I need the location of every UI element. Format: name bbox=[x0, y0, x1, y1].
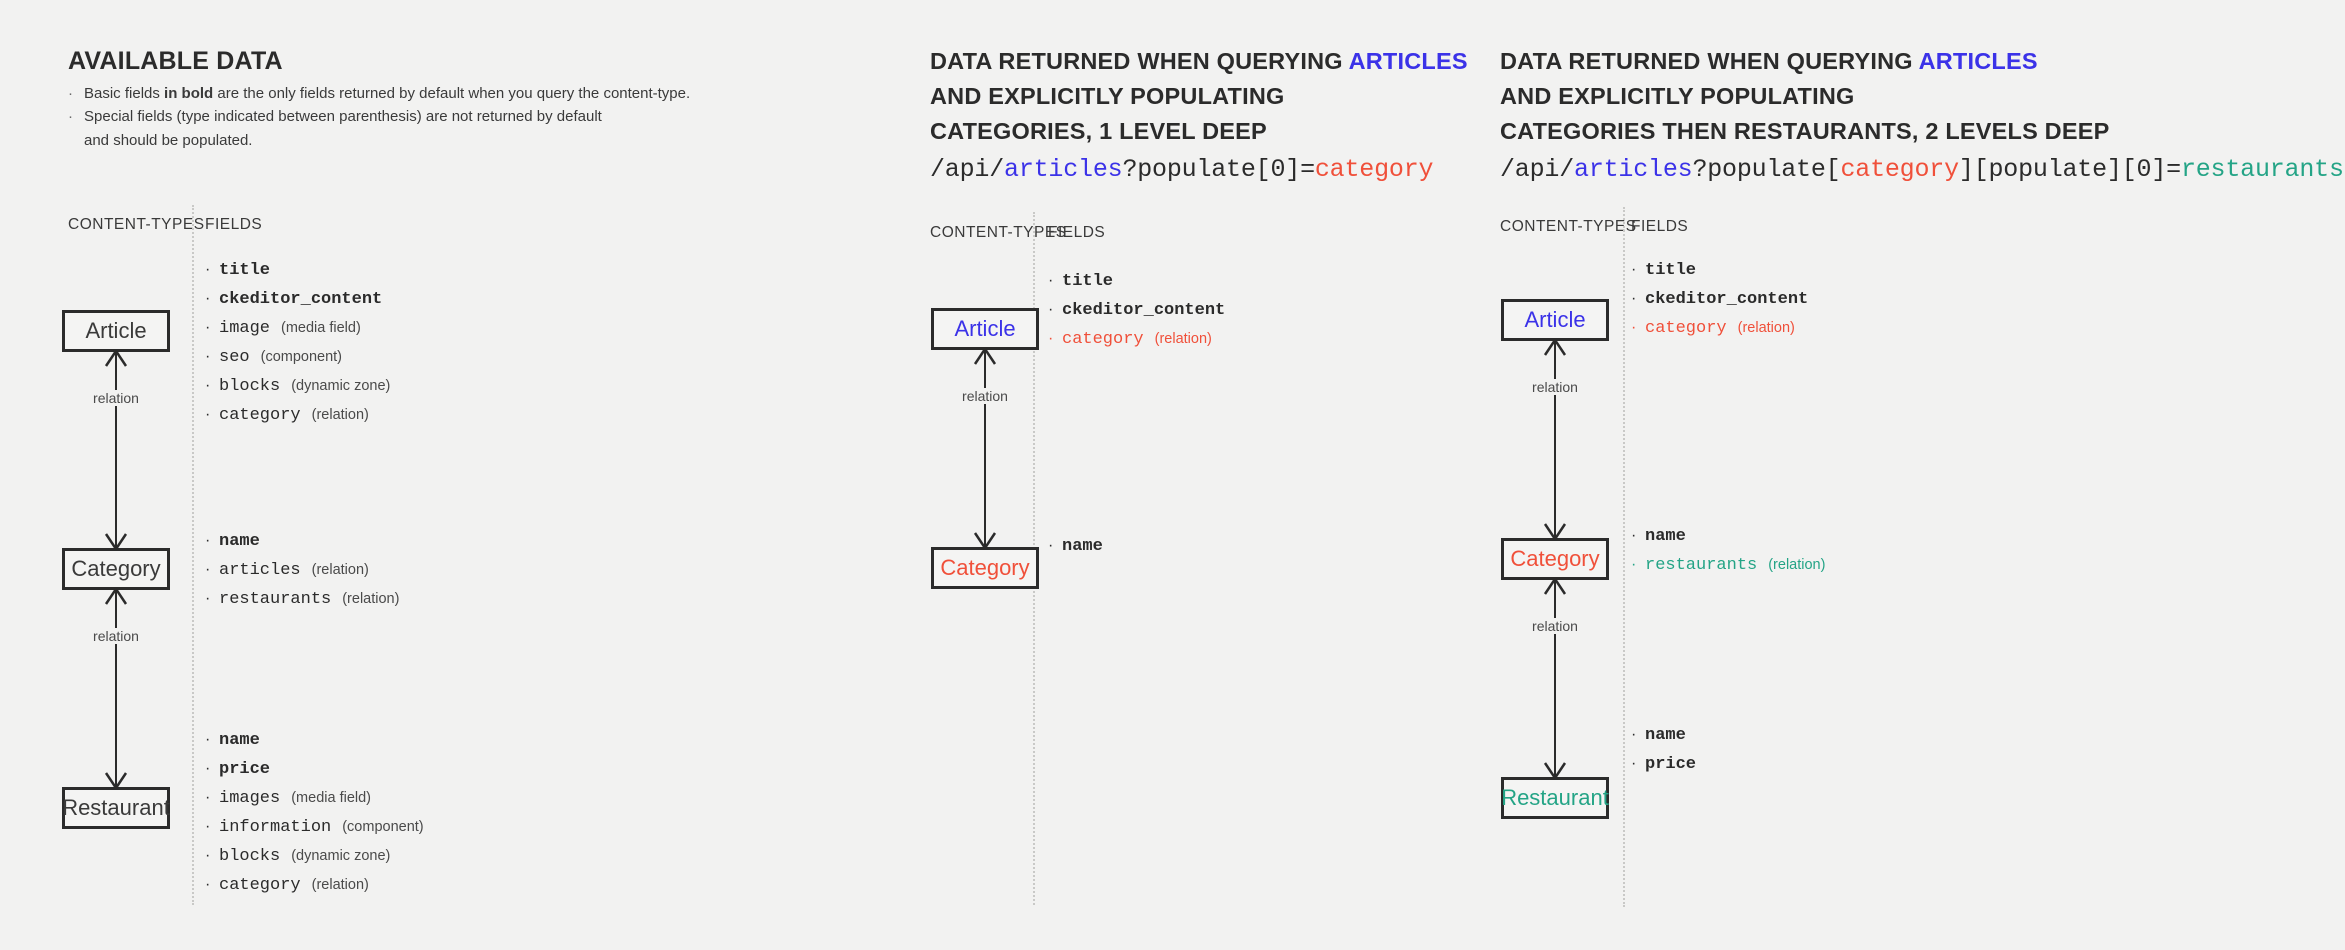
note-text: Special fields (type indicated between p… bbox=[84, 105, 602, 152]
field-name: name bbox=[1645, 528, 1686, 545]
api-token: ][populate][0]= bbox=[1959, 155, 2181, 184]
field-bullet-icon: · bbox=[1631, 320, 1645, 336]
field-bullet-icon: · bbox=[205, 320, 219, 336]
arrow-head-down-icon bbox=[1543, 523, 1567, 539]
field-bullet-icon: · bbox=[205, 291, 219, 307]
api-token: category bbox=[1840, 155, 1958, 184]
field-name: price bbox=[1645, 756, 1696, 773]
field-bullet-icon: · bbox=[1631, 528, 1645, 544]
entity-box-article[interactable]: Article bbox=[62, 310, 170, 352]
field-name: title bbox=[1062, 273, 1113, 290]
relation-connector-category-restaurant: relation bbox=[62, 590, 170, 787]
heading-highlight: ARTICLES bbox=[1919, 48, 2038, 74]
field-bullet-icon: · bbox=[1631, 291, 1645, 307]
field-bullet-icon: · bbox=[205, 761, 219, 777]
heading-line: CATEGORIES, 1 LEVEL DEEP bbox=[930, 114, 1468, 149]
field-name: articles bbox=[219, 562, 301, 579]
entity-box-category[interactable]: Category bbox=[1501, 538, 1609, 580]
field-name: ckeditor_content bbox=[1062, 302, 1225, 319]
field-bullet-icon: · bbox=[1631, 756, 1645, 772]
field-name: category bbox=[1645, 320, 1727, 337]
heading-line: AVAILABLE DATA bbox=[68, 44, 283, 80]
column-2-heading: DATA RETURNED WHEN QUERYING ARTICLES AND… bbox=[930, 44, 1468, 148]
field-name: category bbox=[1062, 331, 1144, 348]
relation-label: relation bbox=[88, 628, 144, 644]
field-row: ·name bbox=[1631, 727, 1696, 744]
arrow-head-down-icon bbox=[973, 532, 997, 548]
column-populate-1-level: DATA RETURNED WHEN QUERYING ARTICLES AND… bbox=[855, 0, 1500, 950]
field-type: (dynamic zone) bbox=[291, 849, 390, 864]
field-row: ·category(relation) bbox=[205, 407, 390, 424]
note-bullet-icon: · bbox=[68, 105, 84, 128]
field-list-restaurant: ·name·price bbox=[1631, 727, 1696, 773]
field-name: title bbox=[1645, 262, 1696, 279]
field-row: ·name bbox=[1631, 528, 1825, 545]
api-token: /api/ bbox=[930, 155, 1004, 184]
field-name: category bbox=[219, 877, 301, 894]
field-bullet-icon: · bbox=[1048, 302, 1062, 318]
relation-label: relation bbox=[88, 390, 144, 406]
heading-line: DATA RETURNED WHEN QUERYING ARTICLES bbox=[1500, 44, 2109, 79]
field-type: (media field) bbox=[281, 321, 361, 336]
field-row: ·category(relation) bbox=[1631, 320, 1808, 337]
field-list-article: ·title·ckeditor_content·category(relatio… bbox=[1631, 262, 1808, 337]
field-bullet-icon: · bbox=[205, 877, 219, 893]
relation-label: relation bbox=[1527, 618, 1583, 634]
arrow-head-up-icon bbox=[104, 589, 128, 605]
arrow-head-up-icon bbox=[1543, 340, 1567, 356]
field-row: ·category(relation) bbox=[205, 877, 424, 894]
field-type: (relation) bbox=[342, 592, 399, 607]
field-name: name bbox=[1645, 727, 1686, 744]
note-bullet-icon: · bbox=[68, 82, 84, 105]
field-type: (component) bbox=[261, 350, 342, 365]
field-type: (relation) bbox=[312, 408, 369, 423]
field-list-category: ·name·articles(relation)·restaurants(rel… bbox=[205, 533, 399, 608]
field-row: ·title bbox=[205, 262, 390, 279]
field-bullet-icon: · bbox=[205, 349, 219, 365]
entity-box-article[interactable]: Article bbox=[1501, 299, 1609, 341]
field-type: (relation) bbox=[312, 563, 369, 578]
field-row: ·information(component) bbox=[205, 819, 424, 836]
entity-box-restaurant[interactable]: Restaurant bbox=[62, 787, 170, 829]
entity-label: Article bbox=[85, 318, 146, 344]
entity-label: Category bbox=[71, 556, 160, 582]
relation-label: relation bbox=[1527, 379, 1583, 395]
api-token: category bbox=[1315, 155, 1433, 184]
field-name: restaurants bbox=[219, 591, 331, 608]
api-token: ?populate[ bbox=[1692, 155, 1840, 184]
field-name: price bbox=[219, 761, 270, 778]
field-name: name bbox=[219, 732, 260, 749]
connector-stem bbox=[115, 590, 117, 787]
field-row: ·ckeditor_content bbox=[1048, 302, 1225, 319]
subheader-content-types: CONTENT-TYPES bbox=[1500, 218, 1637, 236]
entity-label: Restaurant bbox=[1501, 785, 1609, 811]
field-row: ·name bbox=[205, 732, 424, 749]
connector-stem bbox=[1554, 341, 1556, 538]
field-bullet-icon: · bbox=[205, 819, 219, 835]
field-bullet-icon: · bbox=[205, 562, 219, 578]
field-bullet-icon: · bbox=[1048, 273, 1062, 289]
field-name: title bbox=[219, 262, 270, 279]
field-name: information bbox=[219, 819, 331, 836]
field-type: (dynamic zone) bbox=[291, 379, 390, 394]
entity-box-restaurant[interactable]: Restaurant bbox=[1501, 777, 1609, 819]
heading-line: CATEGORIES THEN RESTAURANTS, 2 LEVELS DE… bbox=[1500, 114, 2109, 149]
entity-box-category[interactable]: Category bbox=[931, 547, 1039, 589]
field-bullet-icon: · bbox=[1631, 262, 1645, 278]
field-type: (relation) bbox=[1155, 332, 1212, 347]
column-1-notes: · Basic fields in bold are the only fiel… bbox=[68, 82, 690, 152]
field-bullet-icon: · bbox=[205, 533, 219, 549]
field-row: ·name bbox=[1048, 538, 1103, 555]
subheader-fields: FIELDS bbox=[205, 216, 262, 234]
column-3-divider bbox=[1623, 207, 1625, 907]
entity-label: Article bbox=[954, 316, 1015, 342]
arrow-head-down-icon bbox=[1543, 762, 1567, 778]
api-path-1-level[interactable]: /api/articles?populate[0]=category bbox=[930, 155, 1433, 184]
subheader-content-types: CONTENT-TYPES bbox=[930, 224, 1067, 242]
entity-box-category[interactable]: Category bbox=[62, 548, 170, 590]
field-type: (component) bbox=[342, 820, 423, 835]
field-list-restaurant: ·name·price·images(media field)·informat… bbox=[205, 732, 424, 894]
field-row: ·images(media field) bbox=[205, 790, 424, 807]
relation-connector-category-restaurant: relation bbox=[1501, 580, 1609, 777]
field-type: (relation) bbox=[1768, 558, 1825, 573]
field-name: blocks bbox=[219, 848, 280, 865]
column-available-data: AVAILABLE DATA · Basic fields in bold ar… bbox=[0, 0, 855, 950]
field-name: image bbox=[219, 320, 270, 337]
field-bullet-icon: · bbox=[205, 848, 219, 864]
entity-label: Restaurant bbox=[62, 795, 170, 821]
column-3-heading: DATA RETURNED WHEN QUERYING ARTICLES AND… bbox=[1500, 44, 2109, 148]
subheader-fields: FIELDS bbox=[1048, 224, 1105, 242]
field-row: ·title bbox=[1048, 273, 1225, 290]
field-bullet-icon: · bbox=[1631, 727, 1645, 743]
field-name: category bbox=[219, 407, 301, 424]
relation-connector-article-category: relation bbox=[1501, 341, 1609, 538]
arrow-head-down-icon bbox=[104, 533, 128, 549]
field-bullet-icon: · bbox=[1048, 538, 1062, 554]
api-token: ?populate[0]= bbox=[1122, 155, 1314, 184]
api-token: restaurants bbox=[2181, 155, 2344, 184]
heading-line: DATA RETURNED WHEN QUERYING ARTICLES bbox=[930, 44, 1468, 79]
field-bullet-icon: · bbox=[205, 790, 219, 806]
relation-connector-article-category: relation bbox=[931, 350, 1039, 547]
field-row: ·blocks(dynamic zone) bbox=[205, 848, 424, 865]
field-list-article: ·title·ckeditor_content·category(relatio… bbox=[1048, 273, 1225, 348]
note-item: · Basic fields in bold are the only fiel… bbox=[68, 82, 690, 105]
note-text: Basic fields in bold are the only fields… bbox=[84, 82, 690, 105]
subheader-content-types: CONTENT-TYPES bbox=[68, 216, 205, 234]
relation-connector-article-category: relation bbox=[62, 352, 170, 548]
field-name: restaurants bbox=[1645, 557, 1757, 574]
field-name: ckeditor_content bbox=[219, 291, 382, 308]
connector-stem bbox=[1554, 580, 1556, 777]
field-type: (relation) bbox=[312, 878, 369, 893]
field-bullet-icon: · bbox=[205, 732, 219, 748]
api-token: articles bbox=[1574, 155, 1692, 184]
field-list-category: ·name bbox=[1048, 538, 1103, 555]
field-row: ·articles(relation) bbox=[205, 562, 399, 579]
field-row: ·name bbox=[205, 533, 399, 550]
arrow-head-down-icon bbox=[104, 772, 128, 788]
field-type: (media field) bbox=[291, 791, 371, 806]
field-name: ckeditor_content bbox=[1645, 291, 1808, 308]
field-bullet-icon: · bbox=[1048, 331, 1062, 347]
field-row: ·price bbox=[1631, 756, 1696, 773]
diagram-canvas: AVAILABLE DATA · Basic fields in bold ar… bbox=[0, 0, 2345, 950]
field-name: name bbox=[1062, 538, 1103, 555]
field-list-article: ·title·ckeditor_content·image(media fiel… bbox=[205, 262, 390, 424]
note-item: · Special fields (type indicated between… bbox=[68, 105, 690, 152]
field-bullet-icon: · bbox=[205, 407, 219, 423]
field-bullet-icon: · bbox=[205, 378, 219, 394]
field-row: ·restaurants(relation) bbox=[205, 591, 399, 608]
api-token: articles bbox=[1004, 155, 1122, 184]
field-row: ·price bbox=[205, 761, 424, 778]
entity-box-article[interactable]: Article bbox=[931, 308, 1039, 350]
connector-stem bbox=[984, 350, 986, 547]
entity-label: Category bbox=[940, 555, 1029, 581]
field-row: ·blocks(dynamic zone) bbox=[205, 378, 390, 395]
field-name: seo bbox=[219, 349, 250, 366]
field-name: blocks bbox=[219, 378, 280, 395]
field-bullet-icon: · bbox=[205, 591, 219, 607]
heading-line: AND EXPLICITLY POPULATING bbox=[1500, 79, 2109, 114]
subheader-fields: FIELDS bbox=[1631, 218, 1688, 236]
field-list-category: ·name·restaurants(relation) bbox=[1631, 528, 1825, 574]
entity-label: Article bbox=[1524, 307, 1585, 333]
field-bullet-icon: · bbox=[1631, 557, 1645, 573]
field-name: images bbox=[219, 790, 280, 807]
heading-line: AND EXPLICITLY POPULATING bbox=[930, 79, 1468, 114]
api-token: /api/ bbox=[1500, 155, 1574, 184]
field-row: ·seo(component) bbox=[205, 349, 390, 366]
field-row: ·image(media field) bbox=[205, 320, 390, 337]
field-bullet-icon: · bbox=[205, 262, 219, 278]
api-path-2-levels[interactable]: /api/articles?populate[category][populat… bbox=[1500, 155, 2344, 184]
field-row: ·title bbox=[1631, 262, 1808, 279]
arrow-head-up-icon bbox=[104, 351, 128, 367]
entity-label: Category bbox=[1510, 546, 1599, 572]
field-name: name bbox=[219, 533, 260, 550]
heading-highlight: ARTICLES bbox=[1349, 48, 1468, 74]
arrow-head-up-icon bbox=[1543, 579, 1567, 595]
arrow-head-up-icon bbox=[973, 349, 997, 365]
field-row: ·restaurants(relation) bbox=[1631, 557, 1825, 574]
field-row: ·ckeditor_content bbox=[205, 291, 390, 308]
column-1-heading: AVAILABLE DATA bbox=[68, 44, 283, 80]
column-populate-2-levels: DATA RETURNED WHEN QUERYING ARTICLES AND… bbox=[1500, 0, 2345, 950]
connector-stem bbox=[115, 352, 117, 548]
field-row: ·category(relation) bbox=[1048, 331, 1225, 348]
field-row: ·ckeditor_content bbox=[1631, 291, 1808, 308]
relation-label: relation bbox=[957, 388, 1013, 404]
column-1-divider bbox=[192, 205, 194, 905]
field-type: (relation) bbox=[1738, 321, 1795, 336]
